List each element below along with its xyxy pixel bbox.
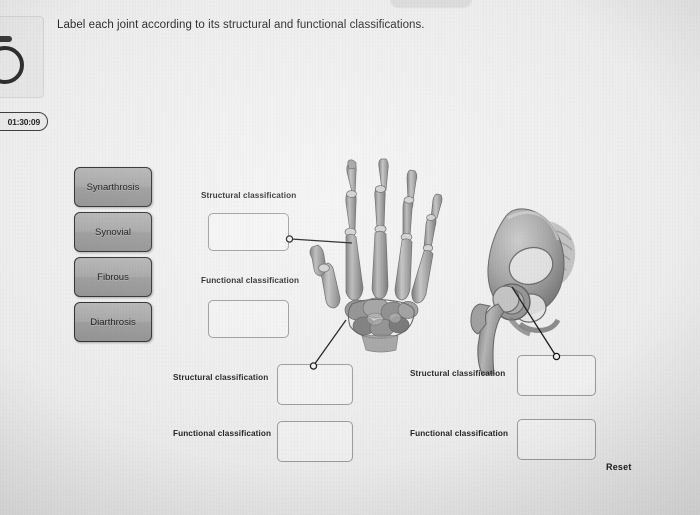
drag-tile-label: Synovial (95, 227, 131, 238)
reset-button[interactable]: Reset (606, 462, 632, 472)
drag-tile-synarthrosis[interactable]: Synarthrosis (74, 167, 152, 207)
drag-tile-label: Fibrous (97, 272, 129, 283)
page-title: Label each joint according to its struct… (57, 19, 425, 31)
drag-tile-synovial[interactable]: Synovial (74, 212, 152, 252)
dropzone-hand-mcp-structural[interactable] (208, 213, 289, 251)
drag-tile-label: Diarthrosis (90, 317, 135, 328)
drag-tile-fibrous[interactable]: Fibrous (74, 257, 152, 297)
label-hand-mcp-functional: Functional classification (201, 276, 299, 285)
label-hip-functional: Functional classification (410, 429, 508, 438)
countdown-timer: 01:30:09 (0, 112, 48, 131)
device-notch (390, 0, 472, 8)
dropzone-hip-structural[interactable] (517, 355, 596, 396)
timer-value: 01:30:09 (8, 117, 40, 127)
menu-bar-icon[interactable] (0, 36, 12, 42)
quiz-screen: 01:30:09 Label each joint according to i… (0, 0, 700, 515)
label-hand-carpal-structural: Structural classification (173, 373, 268, 382)
label-hand-carpal-functional: Functional classification (173, 429, 271, 438)
hand-skeleton-image (300, 158, 490, 368)
label-hand-mcp-structural: Structural classification (201, 191, 296, 200)
label-hip-structural: Structural classification (410, 369, 505, 378)
dropzone-hand-mcp-functional[interactable] (208, 300, 289, 338)
dropzone-hip-functional[interactable] (517, 419, 596, 460)
dropzone-hand-carpal-structural[interactable] (277, 364, 353, 405)
drag-tile-label: Synarthrosis (87, 182, 140, 193)
dropzone-hand-carpal-functional[interactable] (277, 421, 353, 462)
draggable-label-tray: Synarthrosis Synovial Fibrous Diarthrosi… (74, 167, 152, 347)
drag-tile-diarthrosis[interactable]: Diarthrosis (74, 302, 152, 342)
